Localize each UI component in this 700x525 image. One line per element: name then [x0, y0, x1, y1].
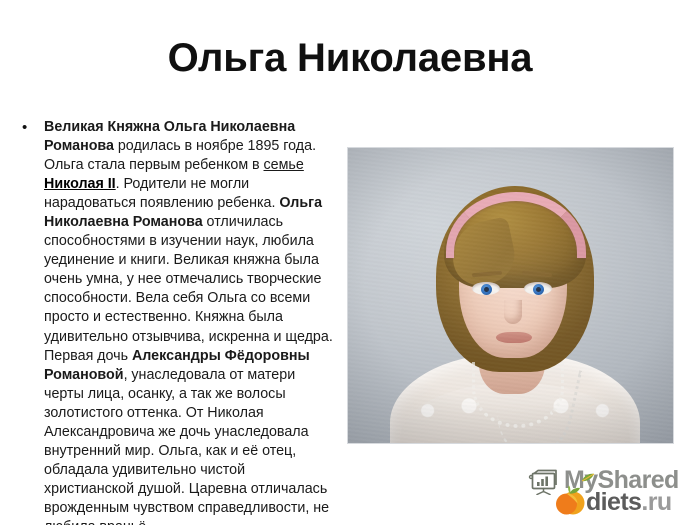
photo-grain-texture [348, 148, 673, 443]
peach-logo-icon [554, 484, 586, 516]
bullet-list-item: • Великая Княжна Ольга Николаевна Романо… [18, 118, 336, 525]
watermark-site-text: diets.ru [586, 488, 672, 516]
presentation-slide: Ольга Николаевна • Великая Княжна Ольга … [0, 0, 700, 525]
watermark-site-name: diets [586, 488, 641, 516]
portrait-photo [348, 148, 673, 443]
biography-paragraph: Великая Княжна Ольга Николаевна Романова… [44, 118, 336, 525]
watermark: MyShared diets.ru [528, 466, 688, 518]
content-body: • Великая Княжна Ольга Николаевна Романо… [18, 118, 336, 525]
page-title: Ольга Николаевна [0, 34, 700, 82]
leaf-icon [581, 470, 595, 480]
watermark-tld: .ru [641, 488, 671, 516]
bullet-point-icon: • [18, 118, 44, 137]
